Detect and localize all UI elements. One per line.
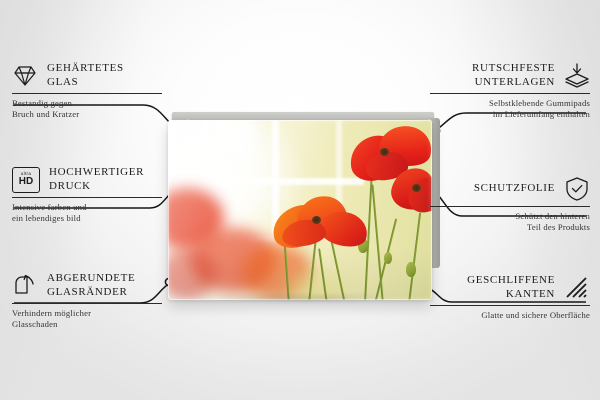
glass-panel-image <box>168 120 432 300</box>
feature-title-line2: DRUCK <box>49 180 91 192</box>
feature-high-quality-print: ultra HD HOCHWERTIGERDRUCK Intensive far… <box>12 166 162 223</box>
feature-title-line1: GESCHLIFFENE <box>467 274 555 286</box>
sun-flare <box>202 120 264 164</box>
feature-non-slip-pads: RUTSCHFESTEUNTERLAGEN Selbstklebende Gum… <box>430 62 590 119</box>
feature-title-line2: GLAS <box>47 76 78 88</box>
bevel-stripes-icon <box>564 275 590 301</box>
feature-subtitle-line2: Bruch und Kratzer <box>12 109 79 119</box>
poppy-photo <box>168 120 432 300</box>
feature-subtitle-line1: Schützt den hinteren <box>515 211 590 221</box>
poppy-bud <box>406 262 416 277</box>
feature-title-line1: RUTSCHFESTE <box>472 62 555 74</box>
divider <box>12 303 162 304</box>
divider <box>12 93 162 94</box>
feature-title-line2: KANTEN <box>506 288 555 300</box>
feature-subtitle-line1: Glatte und sichere Oberfläche <box>481 310 590 320</box>
divider <box>430 93 590 94</box>
shield-check-icon <box>564 176 590 202</box>
feature-subtitle-line2: Teil des Produkts <box>527 222 590 232</box>
feature-subtitle-line2: Glasschaden <box>12 319 58 329</box>
divider <box>12 197 162 198</box>
feature-subtitle-line1: Selbstklebende Gummipads <box>489 98 590 108</box>
panel-drop-shadow <box>176 296 428 312</box>
product-panel <box>168 112 434 290</box>
feature-protective-film: SCHUTZFOLIE Schützt den hinterenTeil des… <box>430 176 590 232</box>
feature-subtitle-line1: Intensive farben und <box>12 202 87 212</box>
feature-ground-edges: GESCHLIFFENEKANTEN Glatte und sichere Ob… <box>430 274 590 321</box>
feature-title-line1: HOCHWERTIGER <box>49 166 144 178</box>
poppy-bud <box>384 252 392 264</box>
divider <box>430 305 590 306</box>
feature-rounded-glass-edges: ABGERUNDETEGLASRÄNDER Verhindern möglich… <box>12 272 162 329</box>
poppy-flower <box>392 164 432 216</box>
divider <box>430 206 590 207</box>
press-pad-icon <box>564 63 590 89</box>
feature-subtitle-line2: im Lieferumfang enthalten <box>493 109 590 119</box>
feature-title-line1: GEHÄRTETES <box>47 62 124 74</box>
rounded-corner-icon <box>12 273 38 299</box>
feature-subtitle-line1: Verhindern möglicher <box>12 308 91 318</box>
poppy-flower <box>272 194 364 248</box>
badge-main-label: HD <box>19 177 33 187</box>
product-infographic: GEHÄRTETESGLAS Bestandig gegenBruch und … <box>0 0 600 400</box>
feature-title-line1: ABGERUNDETE <box>47 272 135 284</box>
feature-tempered-glass: GEHÄRTETESGLAS Bestandig gegenBruch und … <box>12 62 162 119</box>
diamond-icon <box>12 63 38 89</box>
feature-title-line1: SCHUTZFOLIE <box>474 182 555 194</box>
feature-subtitle-line1: Bestandig gegen <box>12 98 72 108</box>
feature-title-line2: GLASRÄNDER <box>47 286 127 298</box>
feature-subtitle-line2: ein lebendiges bild <box>12 213 81 223</box>
ultra-hd-badge-icon: ultra HD <box>12 167 40 193</box>
feature-title-line2: UNTERLAGEN <box>475 76 555 88</box>
